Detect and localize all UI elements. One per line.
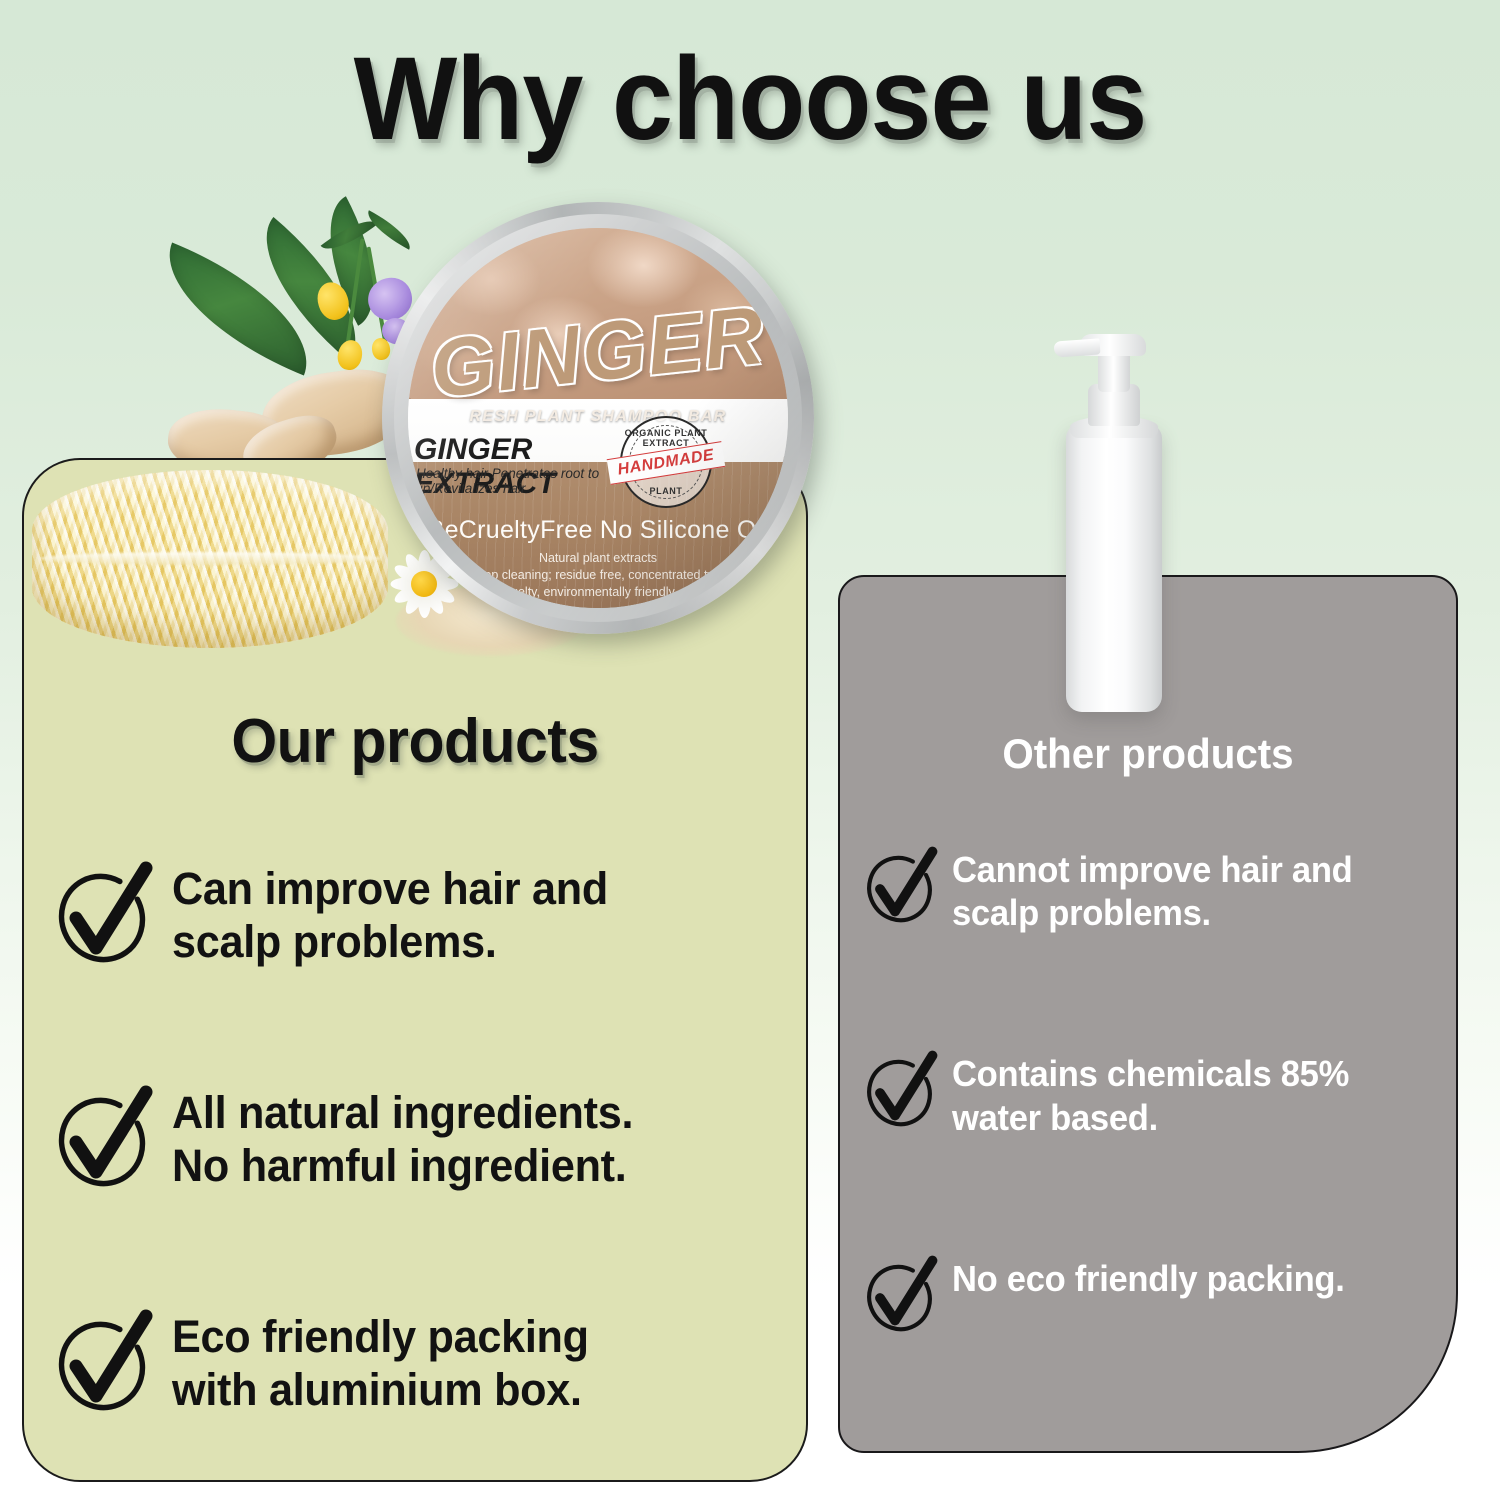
- tin-claim: BeCrueltyFree No Silicone Oil: [408, 516, 788, 545]
- list-item-text: No eco friendly packing.: [952, 1257, 1345, 1300]
- check-circle-icon: [862, 1259, 940, 1331]
- tin-subtitle: RESH PLANT SHAMPOO BAR: [408, 408, 788, 426]
- list-item: No eco friendly packing.: [862, 1257, 1442, 1331]
- list-item-text: Can improve hair and scalp problems.: [172, 862, 608, 968]
- infographic-canvas: Why choose us: [0, 0, 1500, 1500]
- other-products-heading: Other products: [850, 730, 1445, 778]
- list-item: Can improve hair and scalp problems.: [52, 862, 752, 968]
- product-tin: RESH PLANT SHAMPOO BAR GINGER RESH PLANT…: [382, 202, 814, 634]
- check-circle-icon: [862, 850, 940, 922]
- check-circle-icon: [52, 1090, 156, 1186]
- list-item: Eco friendly packing with aluminium box.: [52, 1310, 752, 1416]
- tin-weight: ℮60 g (1.92 oz): [408, 606, 788, 608]
- list-item-text: Contains chemicals 85% water based.: [952, 1052, 1349, 1138]
- other-products-list: Cannot improve hair and scalp problems. …: [862, 848, 1442, 1331]
- list-item-text: Eco friendly packing with aluminium box.: [172, 1310, 589, 1416]
- tin-fine-print: Natural plant extracts Deep cleaning; re…: [408, 550, 788, 601]
- handmade-badge: ORGANIC PLANT EXTRACT PLANT HANDMADE: [620, 416, 712, 508]
- list-item-text: All natural ingredients. No harmful ingr…: [172, 1086, 633, 1192]
- our-products-list: Can improve hair and scalp problems. All…: [52, 862, 752, 1417]
- pump-bottle: [1058, 318, 1170, 714]
- our-products-heading: Our products: [42, 706, 789, 777]
- list-item: All natural ingredients. No harmful ingr…: [52, 1086, 752, 1192]
- check-circle-icon: [52, 866, 156, 962]
- list-item-text: Cannot improve hair and scalp problems.: [952, 848, 1352, 934]
- shampoo-bar: [32, 470, 388, 648]
- page-title: Why choose us: [53, 36, 1448, 163]
- badge-bottom-text: PLANT: [620, 486, 712, 496]
- list-item: Cannot improve hair and scalp problems.: [862, 848, 1442, 934]
- check-circle-icon: [862, 1054, 940, 1126]
- check-circle-icon: [52, 1314, 156, 1410]
- list-item: Contains chemicals 85% water based.: [862, 1052, 1442, 1138]
